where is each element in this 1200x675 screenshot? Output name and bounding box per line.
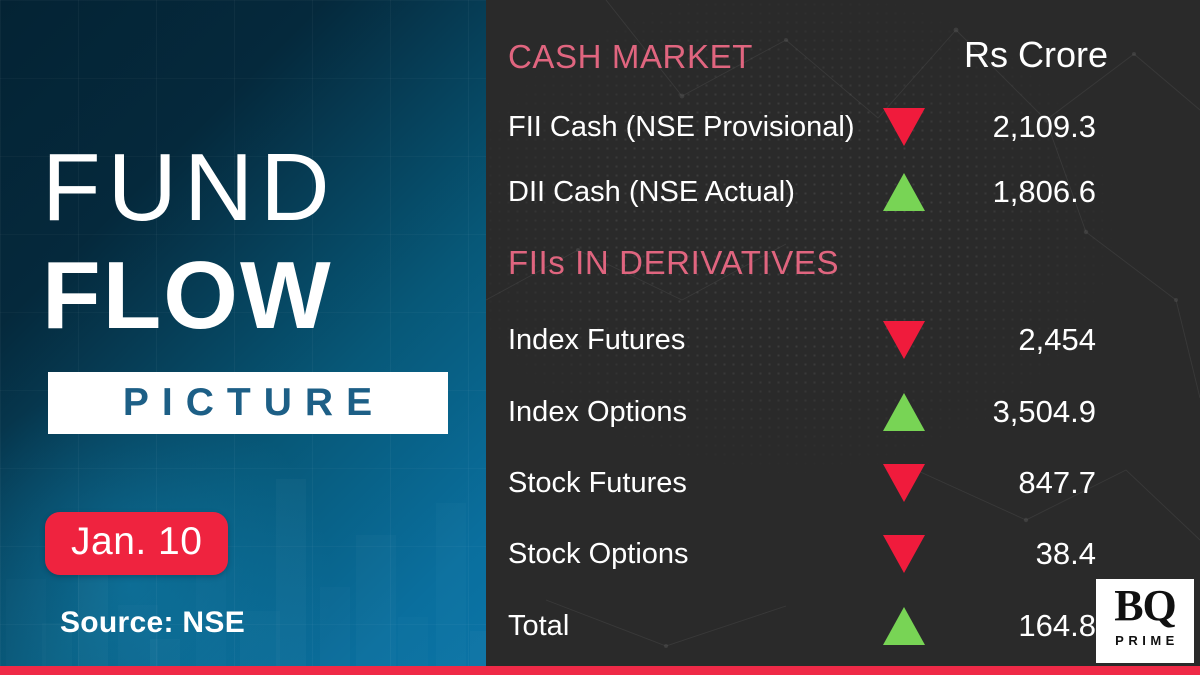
row-label: Index Futures xyxy=(508,318,685,362)
row-value: 847.7 xyxy=(836,461,1096,505)
row-label: Stock Futures xyxy=(508,461,687,505)
row-value: 1,806.6 xyxy=(836,170,1096,214)
bq-logo-mark: BQ xyxy=(1114,585,1176,627)
table-row: FII Cash (NSE Provisional)2,109.3 xyxy=(486,105,1200,149)
row-value: 2,454 xyxy=(836,318,1096,362)
table-row: Index Options3,504.9 xyxy=(486,390,1200,434)
table-row: Index Futures2,454 xyxy=(486,318,1200,362)
date-badge: Jan. 10 xyxy=(45,512,228,575)
section-heading-1: CASH MARKET xyxy=(508,38,753,76)
row-value: 164.8 xyxy=(836,604,1096,648)
row-label: Index Options xyxy=(508,390,687,434)
title-line-fund: FUND xyxy=(42,142,337,233)
table-row: Stock Futures847.7 xyxy=(486,461,1200,505)
data-panel: Rs CroreCASH MARKETFII Cash (NSE Provisi… xyxy=(486,0,1200,675)
row-value: 3,504.9 xyxy=(836,390,1096,434)
data-rows-container: Rs CroreCASH MARKETFII Cash (NSE Provisi… xyxy=(486,0,1200,675)
row-value: 2,109.3 xyxy=(836,105,1096,149)
row-value: 38.4 xyxy=(836,532,1096,576)
source-label: Source: NSE xyxy=(60,606,245,640)
bq-prime-logo: BQ PRIME xyxy=(1096,579,1194,663)
bottom-accent-bar xyxy=(0,666,1200,675)
row-label: DII Cash (NSE Actual) xyxy=(508,170,795,214)
table-row: Stock Options38.4 xyxy=(486,532,1200,576)
title-picture-band: PICTURE xyxy=(48,372,448,434)
title-line-flow: FLOW xyxy=(42,250,333,341)
title-line-picture: PICTURE xyxy=(111,381,385,425)
table-row: DII Cash (NSE Actual)1,806.6 xyxy=(486,170,1200,214)
infographic-canvas: FUND FLOW PICTURE Jan. 10 Source: NSE xyxy=(0,0,1200,675)
unit-header: Rs Crore xyxy=(964,34,1108,76)
row-label: Stock Options xyxy=(508,532,689,576)
row-label: FII Cash (NSE Provisional) xyxy=(508,105,855,149)
row-label: Total xyxy=(508,604,569,648)
bq-logo-wordmark: PRIME xyxy=(1111,633,1179,648)
section-heading-2: FIIs IN DERIVATIVES xyxy=(508,244,839,282)
brand-panel: FUND FLOW PICTURE Jan. 10 Source: NSE xyxy=(0,0,486,675)
table-row: Total164.8 xyxy=(486,604,1200,648)
